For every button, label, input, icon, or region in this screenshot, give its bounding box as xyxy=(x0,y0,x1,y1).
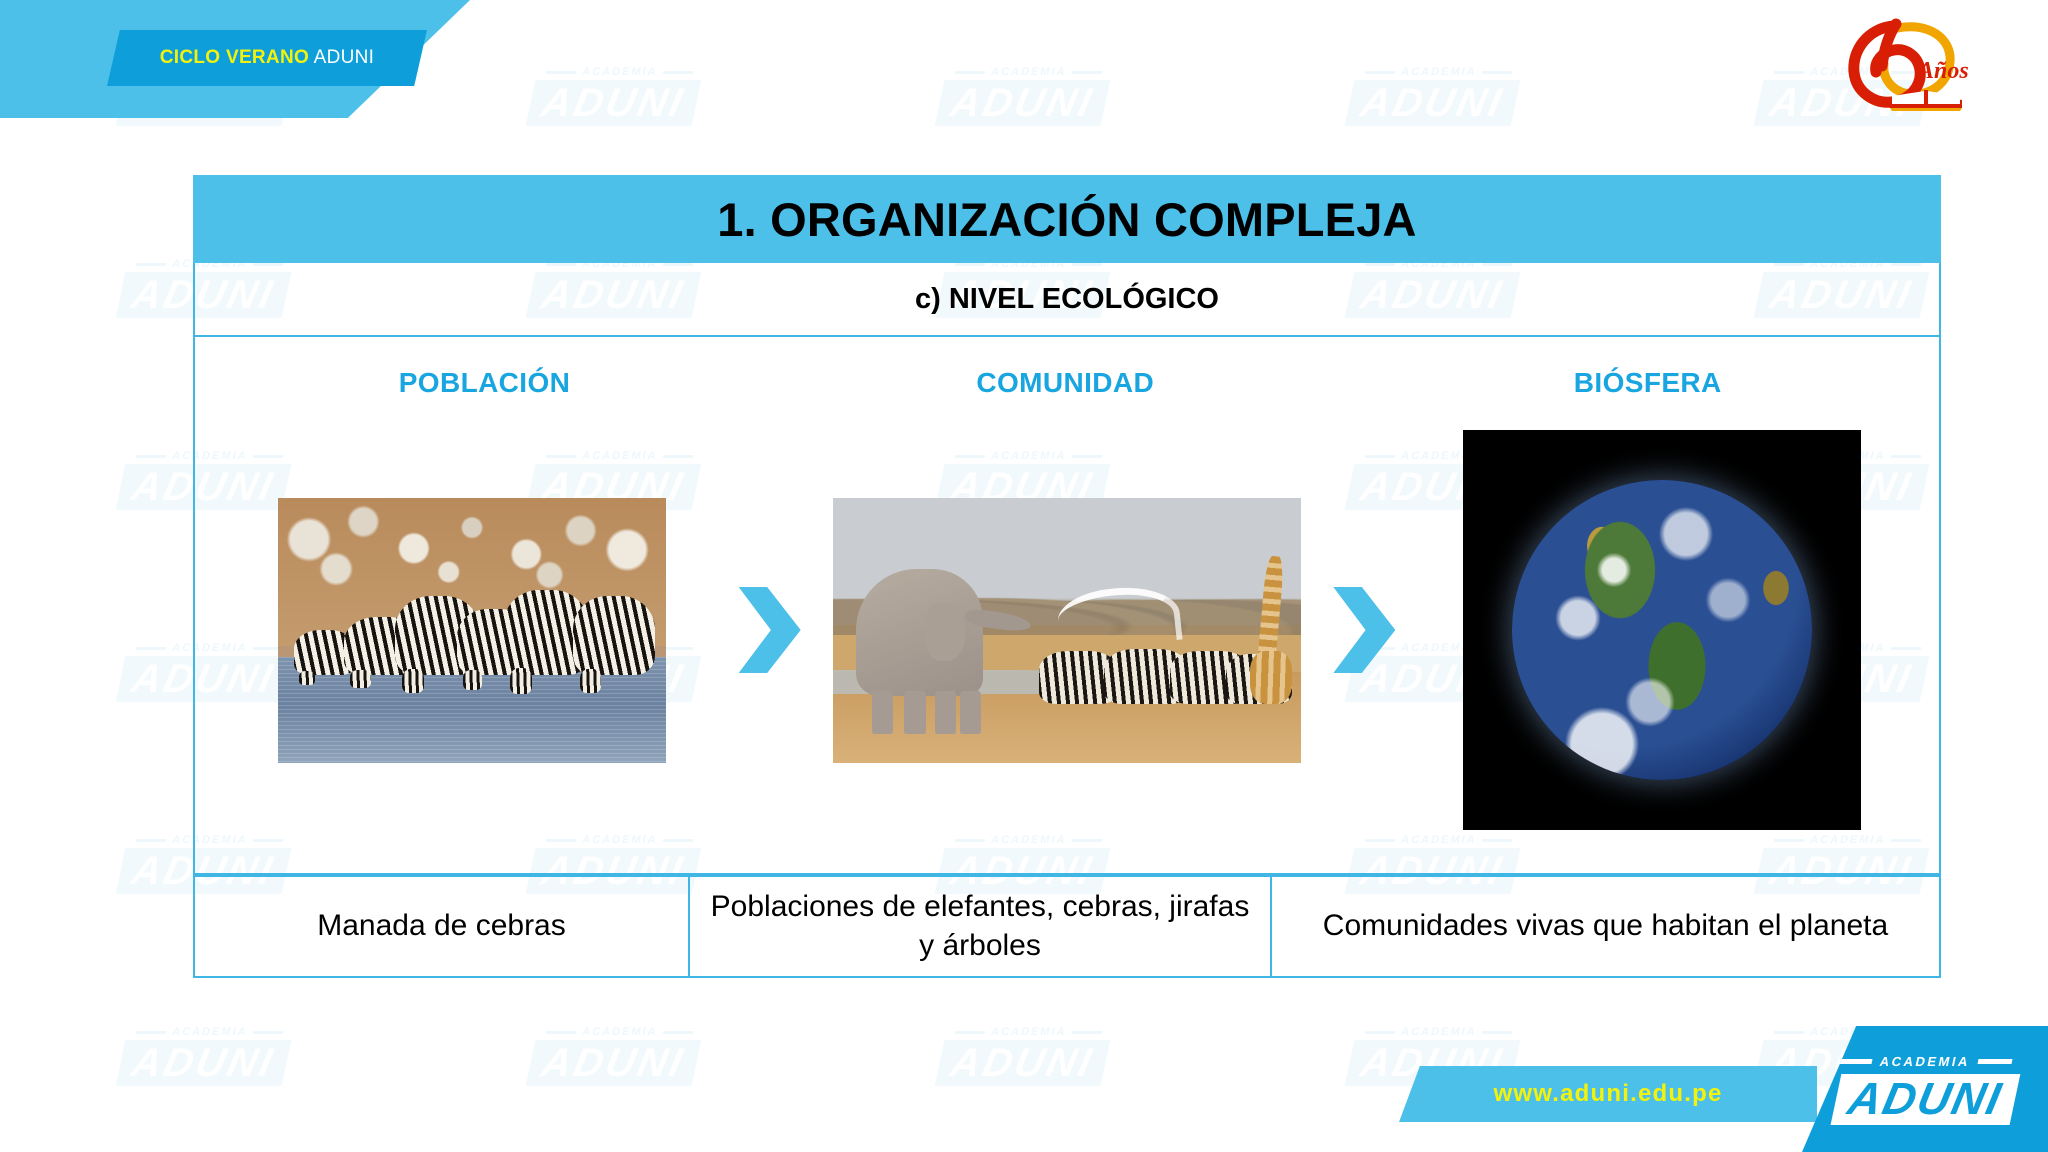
page-title: 1. ORGANIZACIÓN COMPLEJA xyxy=(717,192,1416,247)
watermark-main-text: ADUNI xyxy=(935,80,1110,126)
course-badge-bold: CICLO VERANO xyxy=(160,47,309,68)
website-url[interactable]: www.aduni.edu.pe xyxy=(1494,1080,1723,1108)
slide-subtitle-row: c) NIVEL ECOLÓGICO xyxy=(193,263,1941,335)
aduni-logo-top-text: ACADEMIA xyxy=(1878,1054,1971,1069)
elephant-shape xyxy=(856,569,982,696)
caption-biosfera: Comunidades vivas que habitan el planeta xyxy=(1270,875,1941,978)
slide-title-bar: 1. ORGANIZACIÓN COMPLEJA xyxy=(193,175,1941,263)
chevron-right-icon-1 xyxy=(739,587,801,673)
illustrations-row xyxy=(195,399,1939,873)
captions-row: Manada de cebras Poblaciones de elefante… xyxy=(193,875,1941,978)
globe-shape xyxy=(1512,480,1812,780)
svg-text:Años: Años xyxy=(1916,58,1969,84)
image-zebras-drinking xyxy=(278,498,666,763)
header-banner: CICLO VERANO ADUNI xyxy=(0,0,600,118)
caption-poblacion: Manada de cebras xyxy=(193,875,690,978)
column-header-biosfera: BIÓSFERA xyxy=(1356,367,1938,399)
anniversary-logo: Años xyxy=(1826,16,1996,112)
caption-comunidad: Poblaciones de elefantes, cebras, jirafa… xyxy=(688,875,1272,978)
giraffe-shape xyxy=(1250,556,1292,704)
levels-diagram: POBLACIÓN COMUNIDAD BIÓSFERA xyxy=(193,335,1941,875)
watermark-main-text: ADUNI xyxy=(1344,80,1519,126)
illustration-cell-poblacion xyxy=(217,498,728,763)
anniversary-60-anos-icon: Años xyxy=(1826,16,1996,112)
column-headers-row: POBLACIÓN COMUNIDAD BIÓSFERA xyxy=(195,337,1939,399)
watermark-tile: ACADEMIA ADUNI xyxy=(1208,0,1658,192)
content-card: 1. ORGANIZACIÓN COMPLEJA c) NIVEL ECOLÓG… xyxy=(193,175,1941,980)
column-header-comunidad: COMUNIDAD xyxy=(774,367,1356,399)
aduni-logo-main-text: ADUNI xyxy=(1830,1074,2019,1125)
arrow-cell-1 xyxy=(728,587,812,673)
page-subtitle: c) NIVEL ECOLÓGICO xyxy=(915,283,1219,316)
illustration-cell-biosfera xyxy=(1406,430,1917,830)
aduni-logo: ACADEMIA ADUNI xyxy=(1802,1026,2048,1152)
chevron-right-icon-2 xyxy=(1333,587,1395,673)
image-earth-from-space xyxy=(1463,430,1861,830)
watermark-top-text: ACADEMIA xyxy=(990,66,1068,78)
course-badge: CICLO VERANO ADUNI xyxy=(107,30,427,86)
watermark-tile: ACADEMIA ADUNI xyxy=(799,0,1249,192)
footer-bar: www.aduni.edu.pe ACADEMIA ADUNI xyxy=(0,1026,2048,1152)
course-badge-light: ADUNI xyxy=(309,47,374,68)
column-header-poblacion: POBLACIÓN xyxy=(195,367,774,399)
watermark-top-text: ACADEMIA xyxy=(1400,66,1478,78)
website-url-slab[interactable]: www.aduni.edu.pe xyxy=(1399,1066,1817,1122)
arrow-cell-2 xyxy=(1322,587,1406,673)
illustration-cell-comunidad xyxy=(812,498,1323,763)
image-savanna-waterhole xyxy=(833,498,1301,763)
